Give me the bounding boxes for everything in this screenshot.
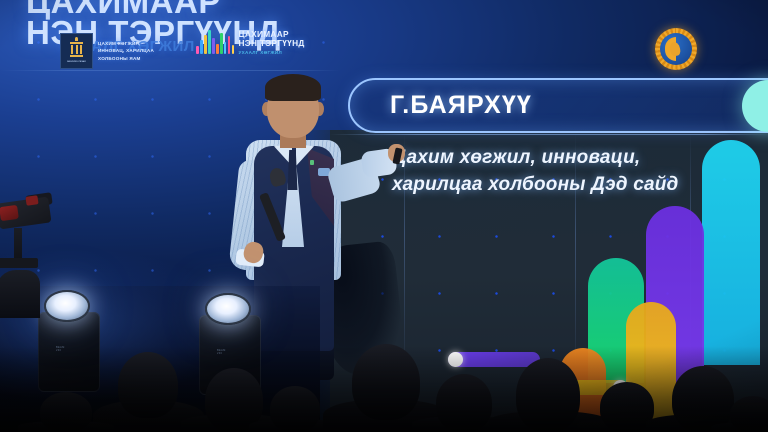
audience-head-9 xyxy=(40,392,92,432)
audience-head-10 xyxy=(730,396,768,432)
ministry-text-line3: ХОЛБООНЫ ЯАМ xyxy=(98,55,154,62)
brand-subtitle: УХААЛГ ХӨГЖИЛ xyxy=(238,50,304,55)
equalizer-bar-1 xyxy=(200,40,203,54)
soyombo-icon xyxy=(69,37,84,58)
equalizer-bar-8 xyxy=(228,36,231,54)
audience-head-3 xyxy=(270,386,320,432)
speaker-title-line2: харилцаа холбооны Дэд сайд xyxy=(392,172,768,199)
camera-tripod-plate xyxy=(0,258,38,268)
screenshot-root: ЦАХИМААР НЭН ТЭРГҮҮНД УХААЛГ ХӨГЖИЛ МОНГ… xyxy=(0,0,768,432)
equalizer-bar-3 xyxy=(208,30,211,54)
camera-red-accent-2 xyxy=(25,195,38,206)
equalizer-bar-4 xyxy=(212,38,215,54)
audience-head-1 xyxy=(118,352,178,418)
audience-head-4 xyxy=(352,344,420,420)
equalizer-bar-0 xyxy=(196,46,199,54)
speaker-title: Цахим хөгжил, инноваци, харилцаа холбоон… xyxy=(392,145,768,199)
equalizer-bar-5 xyxy=(216,44,219,54)
brand-title-line2: НЭН ТЭРГҮҮНД xyxy=(238,39,304,48)
audience-head-6 xyxy=(516,358,580,432)
equalizer-icon xyxy=(196,30,234,54)
camera-tripod-stalk xyxy=(14,228,22,262)
ministry-emblem-mark: МОНГОЛ УЛСЫН ЗАСГИЙН ГАЗАР xyxy=(60,33,93,69)
audience-head-8 xyxy=(672,366,734,432)
speaker-title-line1: Цахим хөгжил, инноваци, xyxy=(392,145,768,172)
ministry-text-line1: ЦАХИМ ХӨГЖИЛ, xyxy=(98,40,154,47)
equalizer-bar-9 xyxy=(232,45,235,54)
broadcast-camera xyxy=(0,192,60,312)
speaker-name: Г.БАЯРХҮҮ xyxy=(390,91,532,120)
audience-silhouettes xyxy=(0,300,768,432)
camera-red-accent xyxy=(0,205,19,221)
speaker-name-banner: Г.БАЯРХҮҮ xyxy=(348,78,768,133)
ministry-logo-text: ЦАХИМ ХӨГЖИЛ, ИННОВАЦ, ХАРИЛЦАА ХОЛБООНЫ… xyxy=(98,40,154,61)
equalizer-bar-6 xyxy=(220,33,223,54)
speaker-lapel-pin xyxy=(310,160,314,165)
brand-logo-text: ЦАХИМААР НЭН ТЭРГҮҮНД УХААЛГ ХӨГЖИЛ xyxy=(238,30,304,55)
event-brand-logo: ЦАХИМААР НЭН ТЭРГҮҮНД УХААЛГ ХӨГЖИЛ xyxy=(196,30,305,55)
ministry-text-line2: ИННОВАЦ, ХАРИЛЦАА xyxy=(98,47,154,54)
speaker-hair xyxy=(265,74,321,101)
equalizer-bar-7 xyxy=(224,42,227,54)
audience-head-5 xyxy=(436,374,492,432)
mongolia-state-emblem-icon xyxy=(655,28,697,70)
ministry-emblem-caption: МОНГОЛ УЛСЫН ЗАСГИЙН ГАЗАР xyxy=(61,63,92,66)
ministry-logo: МОНГОЛ УЛСЫН ЗАСГИЙН ГАЗАР ЦАХИМ ХӨГЖИЛ,… xyxy=(60,33,154,69)
equalizer-bar-2 xyxy=(204,35,207,54)
